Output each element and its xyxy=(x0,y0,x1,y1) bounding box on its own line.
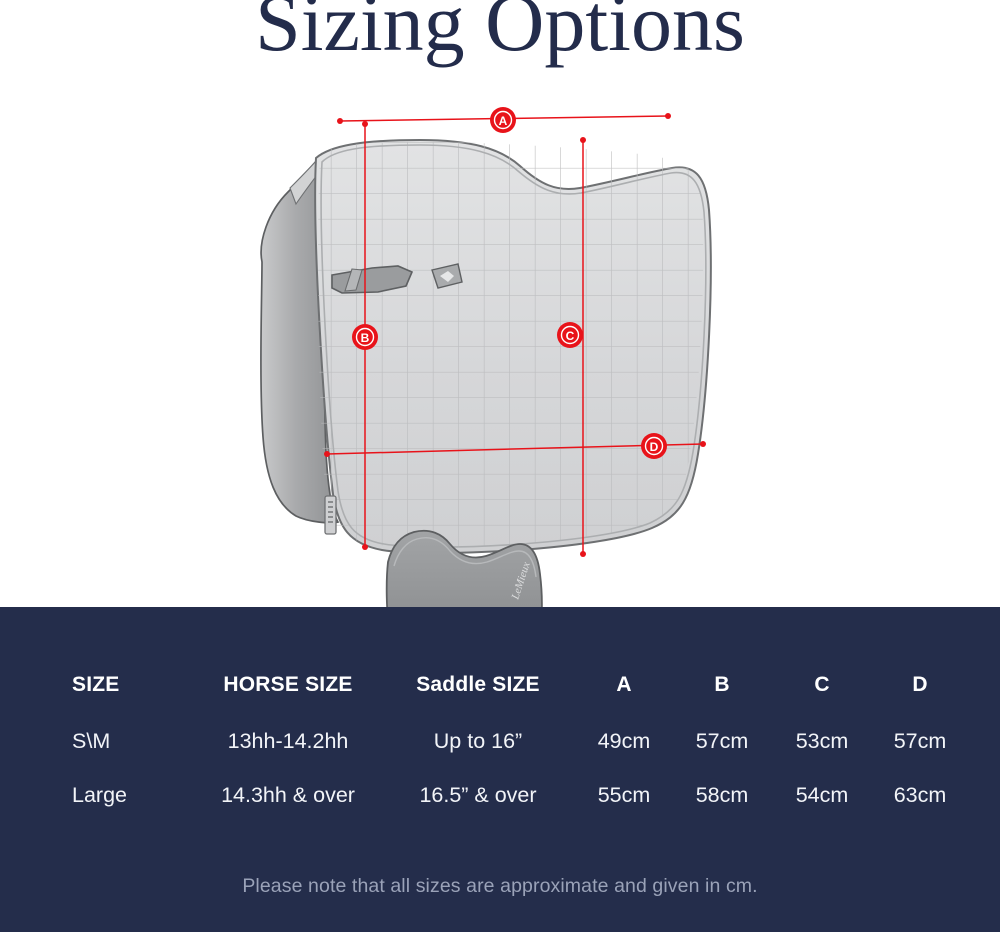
cell-b: 57cm xyxy=(676,729,768,754)
cell-saddle-size: Up to 16” xyxy=(388,729,568,754)
cell-c: 54cm xyxy=(776,783,868,808)
column-header-saddle-size: Saddle SIZE xyxy=(388,673,568,697)
cell-saddle-size: 16.5” & over xyxy=(388,783,568,808)
column-header-size: SIZE xyxy=(72,673,212,697)
column-header-b: B xyxy=(676,673,768,697)
cell-horse-size: 14.3hh & over xyxy=(198,783,378,808)
marker-d: D xyxy=(641,433,667,459)
sizing-table-panel: SIZE HORSE SIZE Saddle SIZE A B C D S\M … xyxy=(0,607,1000,932)
page-title: Sizing Options xyxy=(0,0,1000,64)
column-header-d: D xyxy=(874,673,966,697)
page-header: Sizing Options xyxy=(0,0,1000,92)
cell-a: 49cm xyxy=(578,729,670,754)
cell-b: 58cm xyxy=(676,783,768,808)
table-row: S\M 13hh-14.2hh Up to 16” 49cm 57cm 53cm… xyxy=(0,729,1000,783)
marker-b-label: B xyxy=(361,331,370,345)
column-header-c: C xyxy=(776,673,868,697)
side-brand-tab xyxy=(325,496,336,534)
marker-b: B xyxy=(352,324,378,350)
column-header-a: A xyxy=(578,673,670,697)
marker-a: A xyxy=(490,107,516,133)
cell-a: 55cm xyxy=(578,783,670,808)
sizing-note: Please note that all sizes are approxima… xyxy=(0,875,1000,898)
cell-horse-size: 13hh-14.2hh xyxy=(198,729,378,754)
marker-c: C xyxy=(557,322,583,348)
cell-c: 53cm xyxy=(776,729,868,754)
saddle-pad-diagram: LeMieux LeMieux xyxy=(0,92,1000,607)
table-header-row: SIZE HORSE SIZE Saddle SIZE A B C D xyxy=(0,673,1000,733)
cell-d: 63cm xyxy=(874,783,966,808)
cell-d: 57cm xyxy=(874,729,966,754)
column-header-horse-size: HORSE SIZE xyxy=(198,673,378,697)
marker-c-label: C xyxy=(566,329,575,343)
cell-size: S\M xyxy=(72,729,212,754)
cell-size: Large xyxy=(72,783,212,808)
marker-a-label: A xyxy=(499,114,508,128)
table-row: Large 14.3hh & over 16.5” & over 55cm 58… xyxy=(0,783,1000,837)
marker-d-label: D xyxy=(650,440,659,454)
